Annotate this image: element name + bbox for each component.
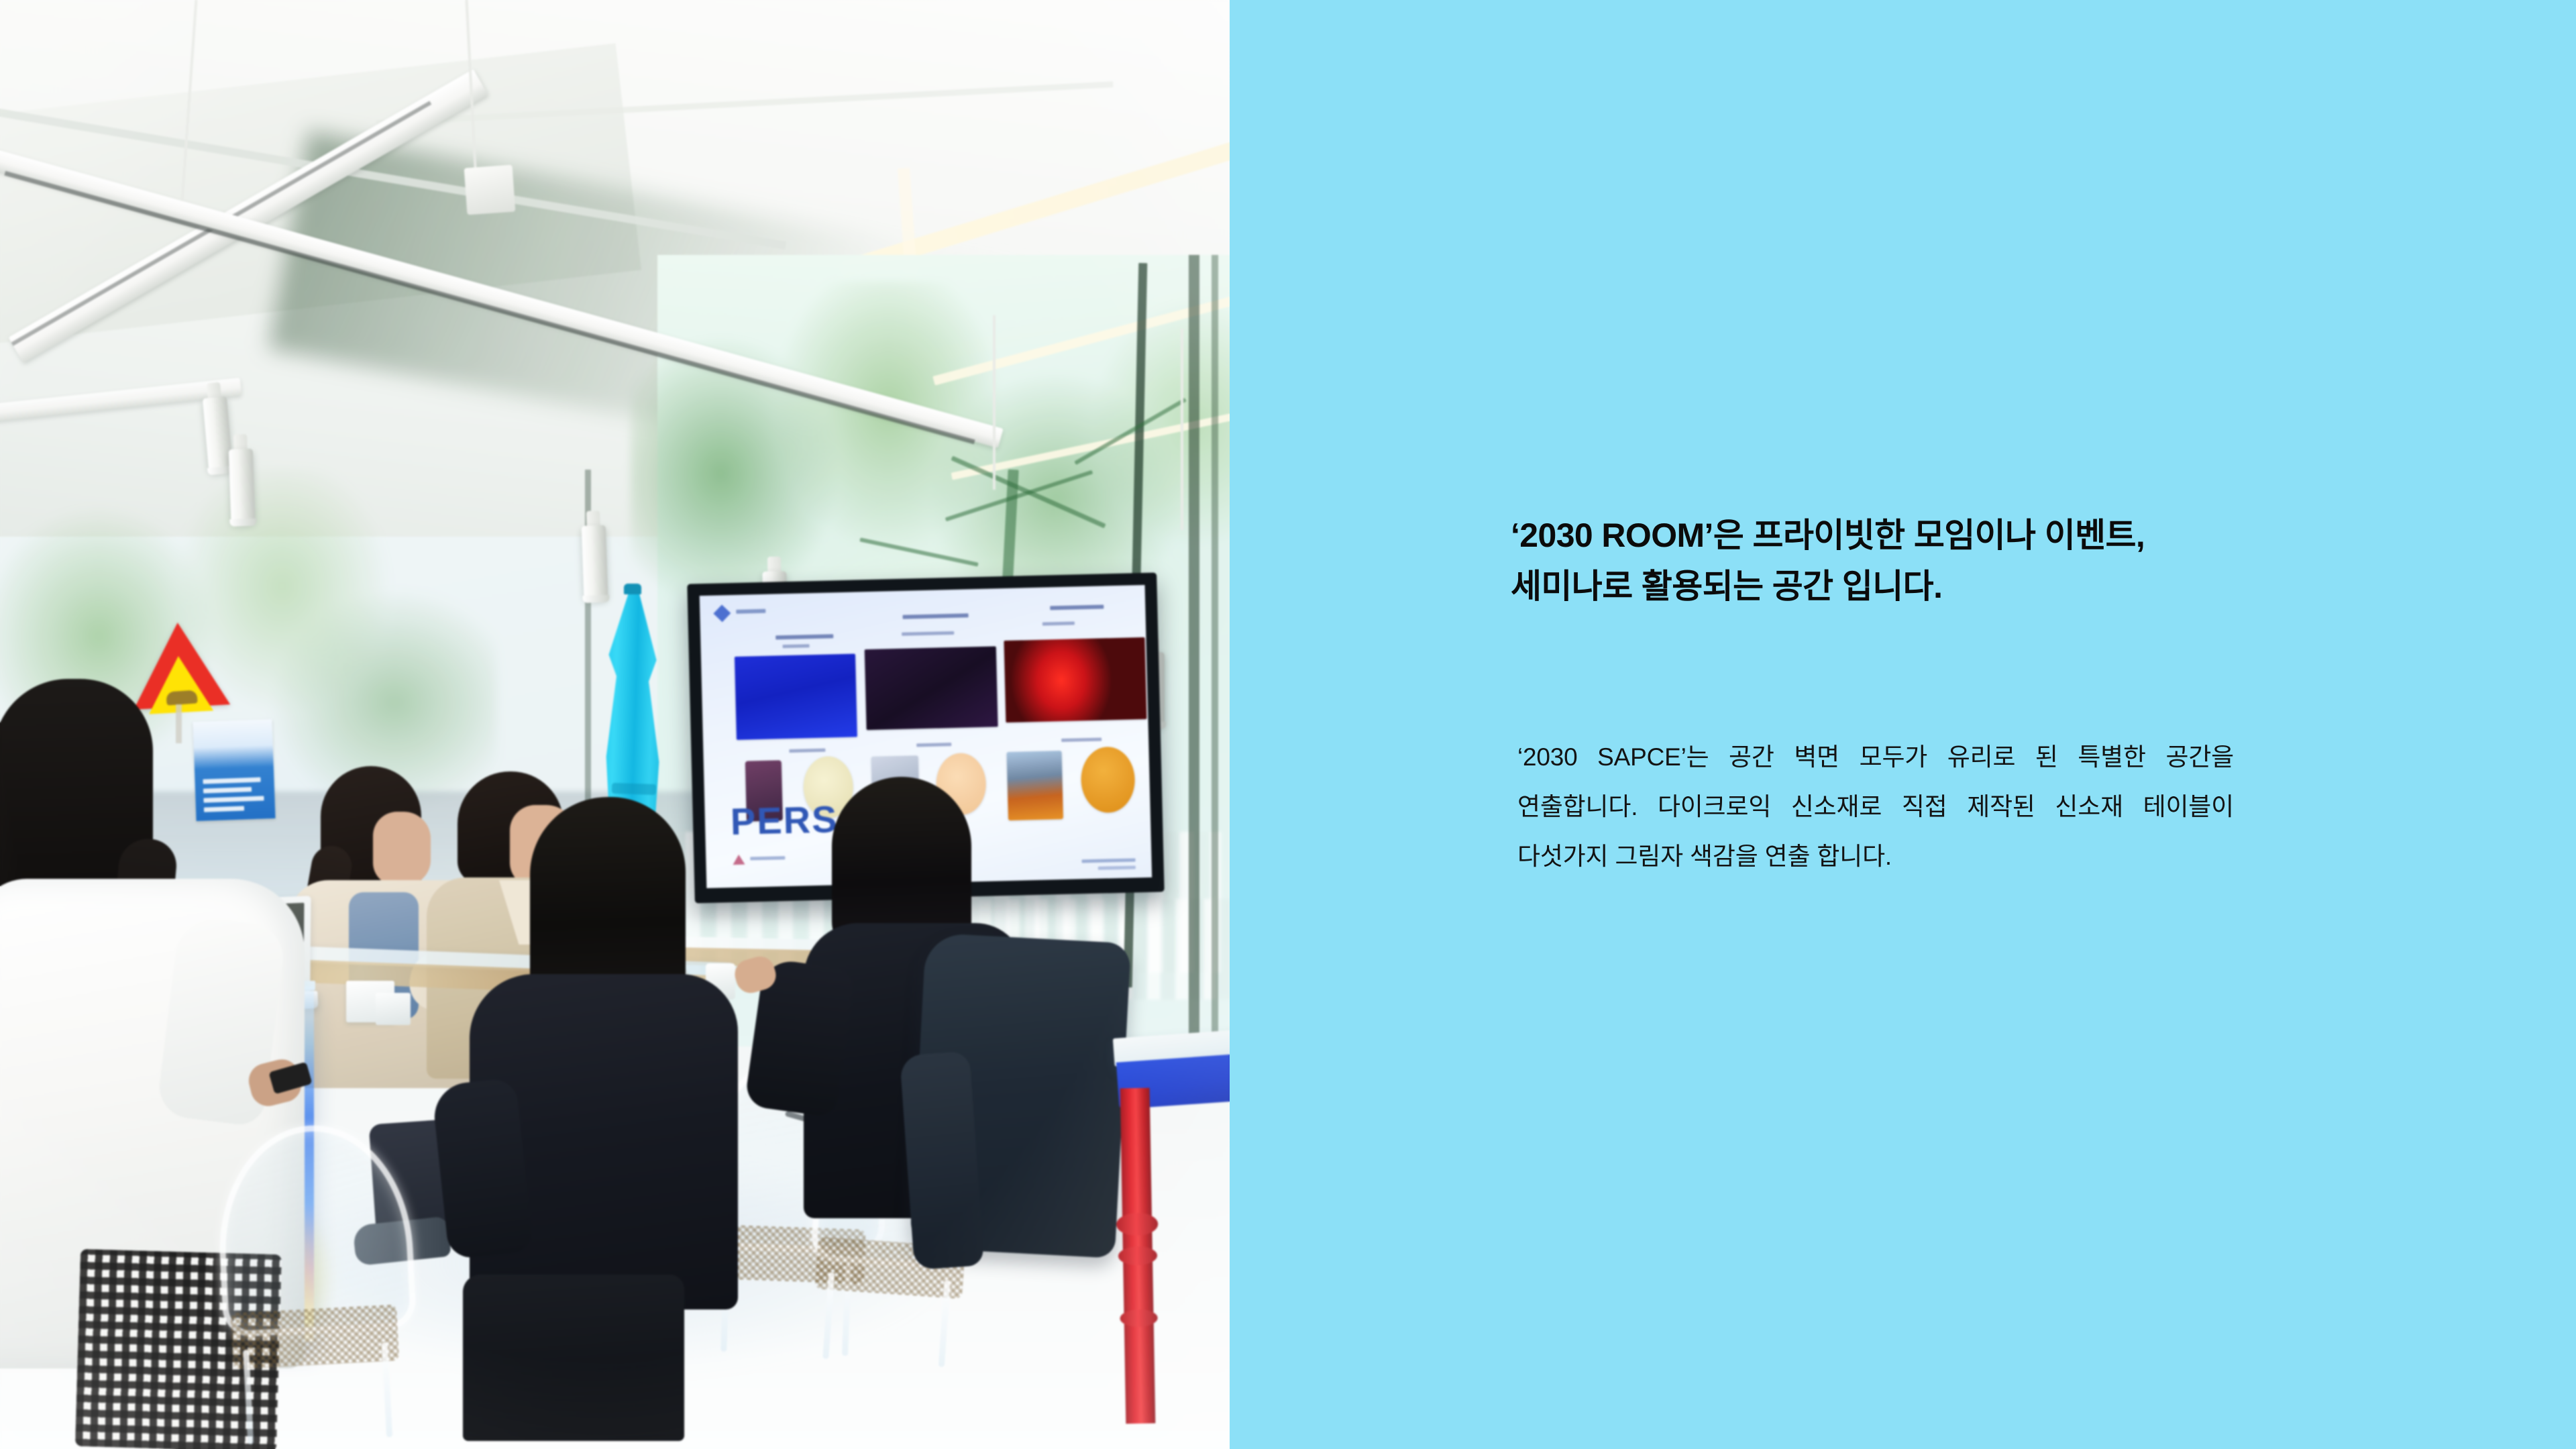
- page-root: PERSONA: [0, 0, 2576, 1449]
- page-headline: ‘2030 ROOM’은 프라이빗한 모임이나 이벤트, 세미나로 활용되는 공…: [1511, 510, 2242, 612]
- page-body-copy: ‘2030 SAPCE’는 공간 벽면 모두가 유리로 된 특별한 공간을 연출…: [1517, 733, 2234, 881]
- photo-softening: [0, 0, 1230, 1449]
- text-panel: ‘2030 ROOM’은 프라이빗한 모임이나 이벤트, 세미나로 활용되는 공…: [1230, 0, 2576, 1449]
- headline-block: ‘2030 ROOM’은 프라이빗한 모임이나 이벤트, 세미나로 활용되는 공…: [1511, 510, 2242, 612]
- room-photograph: PERSONA: [0, 0, 1230, 1449]
